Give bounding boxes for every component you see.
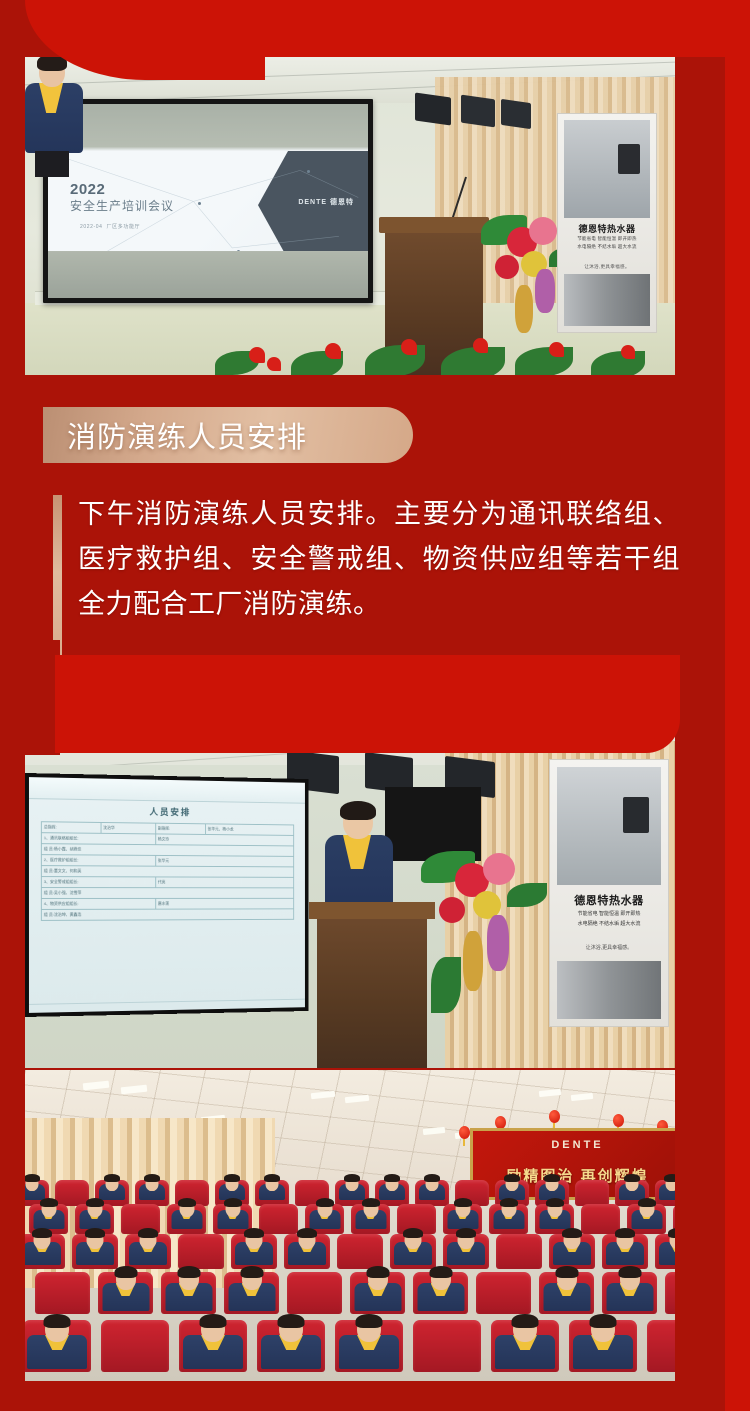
audience-hair (366, 1266, 389, 1278)
table-cell: 2、医疗救护组组长: (41, 855, 155, 867)
audience-hair (618, 1266, 641, 1278)
auditorium-seat (35, 1272, 90, 1314)
standee-headline: 德恩特热水器 (550, 892, 668, 908)
table-row: 3、安全警戒组组长:代亮 (41, 877, 293, 888)
table-cell: 代亮 (155, 877, 293, 888)
audience-hair (264, 1174, 280, 1182)
audience-hair (403, 1228, 423, 1238)
audience-member (415, 1266, 466, 1308)
table-cell: 总指挥: (41, 822, 100, 834)
audience-hair (384, 1174, 400, 1182)
audience-member (392, 1228, 434, 1263)
audience-member (604, 1228, 646, 1263)
standee-tagline: 让沐浴,更具幸福感。 (558, 264, 656, 270)
auditorium-seat (413, 1320, 481, 1372)
section-title-banner: 消防演练人员安排 (43, 407, 413, 463)
table-cell: 沈治华 (101, 822, 156, 833)
audience-hair (624, 1174, 640, 1182)
personnel-table: 总指挥:沈治华副指挥:张华元、杨小龙1、通讯联络组组长:杨文玲组 员:杨小霞、胡… (41, 821, 294, 921)
audience-hair (454, 1198, 472, 1207)
slide-year: 2022 (70, 181, 105, 198)
audience-member (337, 1174, 367, 1200)
auditorium-seat (496, 1234, 542, 1269)
audience-hair (562, 1228, 582, 1238)
audience-member (571, 1314, 635, 1366)
section-body-text: 下午消防演练人员安排。主要分为通讯联络组、医疗救护组、安全警戒组、物资供应组等若… (78, 492, 680, 627)
table-cell: 组 员:董文文、何和英 (41, 866, 293, 878)
podium-top (309, 902, 435, 919)
audience-member (604, 1266, 655, 1308)
audience-hair (177, 1266, 200, 1278)
audience-hair (240, 1266, 263, 1278)
word-ribbon-toolbar (29, 777, 305, 804)
audience-member (537, 1198, 572, 1228)
audience-hair (362, 1198, 380, 1207)
audience-member (445, 1228, 487, 1263)
table-cell: 组 员:沈治坤、黄鑫浩 (41, 909, 293, 921)
photo3-scene: DENTE 励精图治 再创辉煌 (25, 1070, 675, 1381)
audience-member (259, 1314, 323, 1366)
audience-member (25, 1314, 89, 1366)
presenter-hair (340, 801, 376, 820)
red-rounded-corner-overlay (55, 655, 680, 753)
poster-canvas: 2022 安全生产培训会议 2022-04 厂区多功能厅 DENTE 德恩特 (0, 0, 750, 1411)
audience-hair (429, 1266, 452, 1278)
audience-member (100, 1266, 151, 1308)
audience-member (445, 1198, 480, 1228)
audience-member (417, 1174, 447, 1200)
audience-hair (32, 1228, 52, 1238)
podium (317, 911, 427, 1068)
audience-hair (104, 1174, 120, 1182)
table-row: 4、物资供应组组长:唐水莲 (41, 898, 293, 909)
standee-tagline: 让沐浴,更具幸福感。 (550, 944, 668, 951)
audience-member (377, 1174, 407, 1200)
standee-features-line2: 水电隔绝 不结水垢 超大水流 (558, 244, 656, 250)
audience-member (181, 1314, 245, 1366)
audience-member (169, 1198, 204, 1228)
auditorium-seat (476, 1272, 531, 1314)
auditorium-seat (101, 1320, 169, 1372)
standee-features-line1: 节能省电 智能恒温 即开即热 (550, 910, 668, 917)
audience-member (657, 1228, 675, 1263)
presenter-legs (35, 151, 69, 177)
audience-hair (138, 1228, 158, 1238)
audience-member (31, 1198, 66, 1228)
audience-hair (144, 1174, 160, 1182)
audience-seating (25, 1166, 675, 1381)
potted-plants-row (205, 309, 675, 375)
ceiling-speaker-icon (501, 99, 531, 129)
water-heater-standee: 德恩特热水器 节能省电 智能恒温 即开即热 水电隔绝 不结水垢 超大水流 让沐浴… (549, 759, 669, 1027)
auditorium-seat (337, 1234, 383, 1269)
stage-banner-logo: DENTE (473, 1139, 675, 1151)
presenter-hair (37, 57, 67, 71)
audience-member (74, 1228, 116, 1263)
water-heater-unit-icon (618, 144, 640, 174)
standee-features-line2: 水电隔绝 不结水垢 超大水流 (550, 920, 668, 927)
audience-hair (590, 1314, 617, 1328)
slide-node-dot (198, 202, 201, 205)
audience-member (217, 1174, 247, 1200)
audience-hair (40, 1198, 58, 1207)
audience-member (353, 1198, 388, 1228)
audience-member (491, 1198, 526, 1228)
table-row: 组 员:董文文、何和英 (41, 866, 293, 878)
audience-member (497, 1174, 527, 1200)
table-cell: 4、物资供应组组长: (41, 898, 155, 909)
slide-title: 安全生产培训会议 (70, 197, 174, 214)
auditorium-seat (287, 1272, 342, 1314)
standee-photo-strip (557, 961, 661, 1019)
audience-hair (456, 1228, 476, 1238)
audience-member (493, 1314, 557, 1366)
audience-hair (512, 1314, 539, 1328)
training-meeting-photo: 2022 安全生产培训会议 2022-04 厂区多功能厅 DENTE 德恩特 (25, 57, 675, 375)
projected-document: 人员安排 总指挥:沈治华副指挥:张华元、杨小龙1、通讯联络组组长:杨文玲组 员:… (29, 777, 305, 1013)
audience-member (541, 1266, 592, 1308)
audience-member (307, 1198, 342, 1228)
audience-hair (555, 1266, 578, 1278)
presentation-slide: 2022 安全生产培训会议 2022-04 厂区多功能厅 DENTE 德恩特 (48, 151, 368, 252)
standee-product-photo (564, 120, 650, 218)
projection-screen: 人员安排 总指挥:沈治华副指挥:张华元、杨小龙1、通讯联络组组长:杨文玲组 员:… (25, 773, 309, 1017)
audience-member (127, 1228, 169, 1263)
water-heater-unit-icon (623, 797, 649, 833)
audience-member (226, 1266, 277, 1308)
standee-product-photo (557, 767, 661, 885)
ceiling-speaker-icon (461, 95, 495, 128)
audience-member (137, 1174, 167, 1200)
audience-hair (668, 1228, 675, 1238)
audience-hair (615, 1228, 635, 1238)
audience-member (537, 1174, 567, 1200)
audience-hair (224, 1174, 240, 1182)
audience-hair (244, 1228, 264, 1238)
slide-brand-logo: DENTE 德恩特 (298, 197, 354, 207)
auditorium-seat (575, 1180, 609, 1206)
audience-hair (316, 1198, 334, 1207)
slide-meta: 2022-04 厂区多功能厅 (80, 223, 140, 230)
audience-member (352, 1266, 403, 1308)
audience-member (286, 1228, 328, 1263)
audience-hair (25, 1174, 40, 1182)
audience-hair (297, 1228, 317, 1238)
audience-member (163, 1266, 214, 1308)
table-cell: 3、安全警戒组组长: (41, 877, 155, 888)
audience-member (97, 1174, 127, 1200)
lantern-icon (549, 1110, 560, 1123)
standee-features-line1: 节能省电 智能恒温 即开即热 (558, 236, 656, 242)
slide-node-dot (307, 170, 310, 173)
section-title-text: 消防演练人员安排 (67, 414, 307, 456)
water-heater-standee: 德恩特热水器 节能省电 智能恒温 即开即热 水电隔绝 不结水垢 超大水流 让沐浴… (557, 113, 657, 333)
audience-hair (344, 1174, 360, 1182)
projection-screen-surface: 2022 安全生产培训会议 2022-04 厂区多功能厅 DENTE 德恩特 (48, 104, 368, 298)
podium-top (379, 217, 489, 233)
document-title: 人员安排 (29, 803, 305, 820)
table-cell: 组 员:吴小强、沈雪萍 (41, 888, 293, 899)
table-cell: 副指挥: (155, 823, 205, 834)
audience-hair (638, 1198, 656, 1207)
slide-node-dot (237, 250, 240, 252)
flower-arrangement (421, 845, 561, 1025)
audience-hair (85, 1228, 105, 1238)
red-left-fill (0, 640, 60, 755)
audience-member (629, 1198, 664, 1228)
audience-hair (200, 1314, 227, 1328)
audience-member (215, 1198, 250, 1228)
audience-hair (546, 1198, 564, 1207)
auditorium-seat (178, 1234, 224, 1269)
table-row: 组 员:吴小强、沈雪萍 (41, 888, 293, 899)
photo1-scene: 2022 安全生产培训会议 2022-04 厂区多功能厅 DENTE 德恩特 (25, 57, 675, 375)
audience-hair (356, 1314, 383, 1328)
audience-hair (544, 1174, 560, 1182)
audience-hair (224, 1198, 242, 1207)
audience-member (77, 1198, 112, 1228)
audience-hair (500, 1198, 518, 1207)
lantern-icon (613, 1114, 624, 1127)
ceiling-speaker-icon (415, 92, 451, 125)
auditorium-audience-photo: DENTE 励精图治 再创辉煌 (25, 1070, 675, 1381)
audience-hair (504, 1174, 520, 1182)
audience-member (617, 1174, 647, 1200)
lantern-icon (459, 1126, 470, 1139)
audience-hair (86, 1198, 104, 1207)
audience-member (257, 1174, 287, 1200)
audience-hair (278, 1314, 305, 1328)
audience-member (25, 1174, 47, 1200)
audience-member (233, 1228, 275, 1263)
audience-member (25, 1228, 63, 1263)
auditorium-seat (665, 1272, 675, 1314)
audience-member (657, 1174, 675, 1200)
audience-hair (178, 1198, 196, 1207)
audience-hair (114, 1266, 137, 1278)
word-status-bar (29, 999, 305, 1013)
audience-hair (424, 1174, 440, 1182)
audience-hair (44, 1314, 71, 1328)
table-cell: 唐水莲 (155, 898, 293, 909)
projection-screen: 2022 安全生产培训会议 2022-04 厂区多功能厅 DENTE 德恩特 (43, 99, 373, 303)
audience-member (337, 1314, 401, 1366)
table-cell: 张华元 (155, 855, 293, 866)
standee-headline: 德恩特热水器 (558, 222, 656, 235)
auditorium-seat (647, 1320, 675, 1372)
audience-member (551, 1228, 593, 1263)
table-row: 组 员:沈治坤、黄鑫浩 (41, 909, 293, 921)
audience-hair (664, 1174, 675, 1182)
